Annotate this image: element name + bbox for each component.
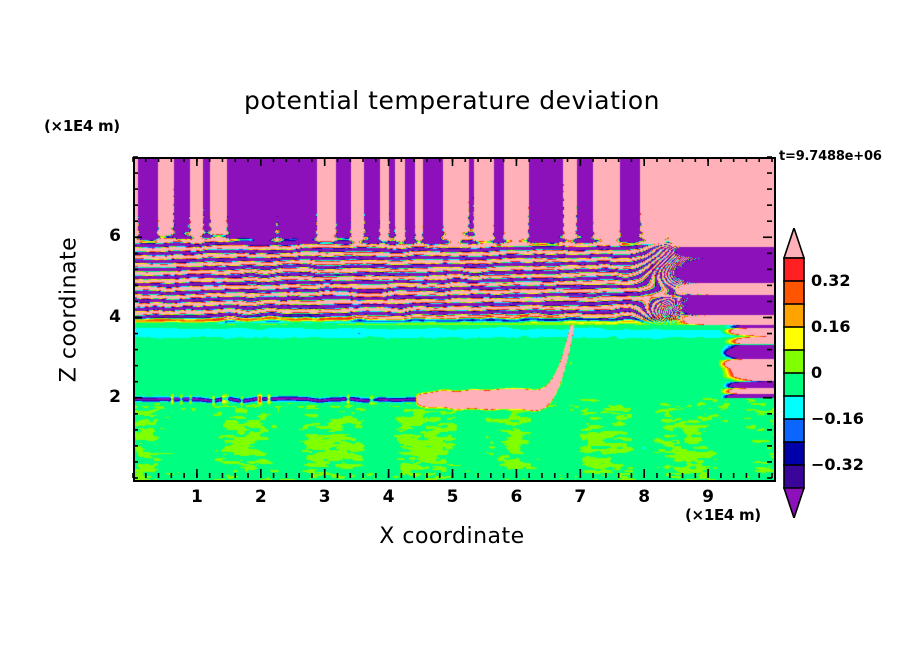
x-tick-label: 7: [565, 487, 595, 507]
y-tick-label: 2: [91, 387, 121, 407]
x-axis-title: X coordinate: [0, 524, 904, 549]
colorbar[interactable]: [781, 228, 807, 518]
colorbar-band: [784, 465, 804, 488]
plot-area[interactable]: [133, 157, 776, 482]
figure-root: potential temperature deviation (×1E4 m)…: [0, 0, 904, 654]
x-tick-label: 8: [629, 487, 659, 507]
colorbar-over-arrow: [784, 228, 804, 258]
colorbar-tick-label: 0: [811, 363, 822, 382]
colorbar-band: [784, 327, 804, 350]
colorbar-band: [784, 419, 804, 442]
colorbar-tick-label: 0.32: [811, 271, 850, 290]
colorbar-band: [784, 350, 804, 373]
x-tick-label: 5: [438, 487, 468, 507]
colorbar-band: [784, 373, 804, 396]
x-tick-label: 4: [374, 487, 404, 507]
y-tick-label: 4: [91, 307, 121, 327]
x-tick-label: 9: [693, 487, 723, 507]
colorbar-tick-label: 0.16: [811, 317, 850, 336]
colorbar-tick-label: −0.16: [811, 409, 864, 428]
x-tick-label: 3: [310, 487, 340, 507]
y-axis-title: Z coordinate: [57, 220, 82, 400]
x-tick-label: 1: [182, 487, 212, 507]
x-tick-label: 2: [246, 487, 276, 507]
colorbar-band: [784, 442, 804, 465]
colorbar-band: [784, 281, 804, 304]
colorbar-tick-label: −0.32: [811, 455, 864, 474]
page-title: potential temperature deviation: [0, 86, 904, 115]
colorbar-band: [784, 304, 804, 327]
colorbar-band: [784, 258, 804, 281]
x-tick-label: 6: [501, 487, 531, 507]
colorbar-under-arrow: [784, 488, 804, 518]
x-axis-unit-label: (×1E4 m): [685, 506, 761, 524]
timestamp-label: t=9.7488e+06: [779, 149, 882, 164]
y-axis-unit-label: (×1E4 m): [44, 117, 120, 135]
contour-field-canvas: [135, 159, 774, 480]
y-tick-label: 6: [91, 226, 121, 246]
colorbar-band: [784, 396, 804, 419]
